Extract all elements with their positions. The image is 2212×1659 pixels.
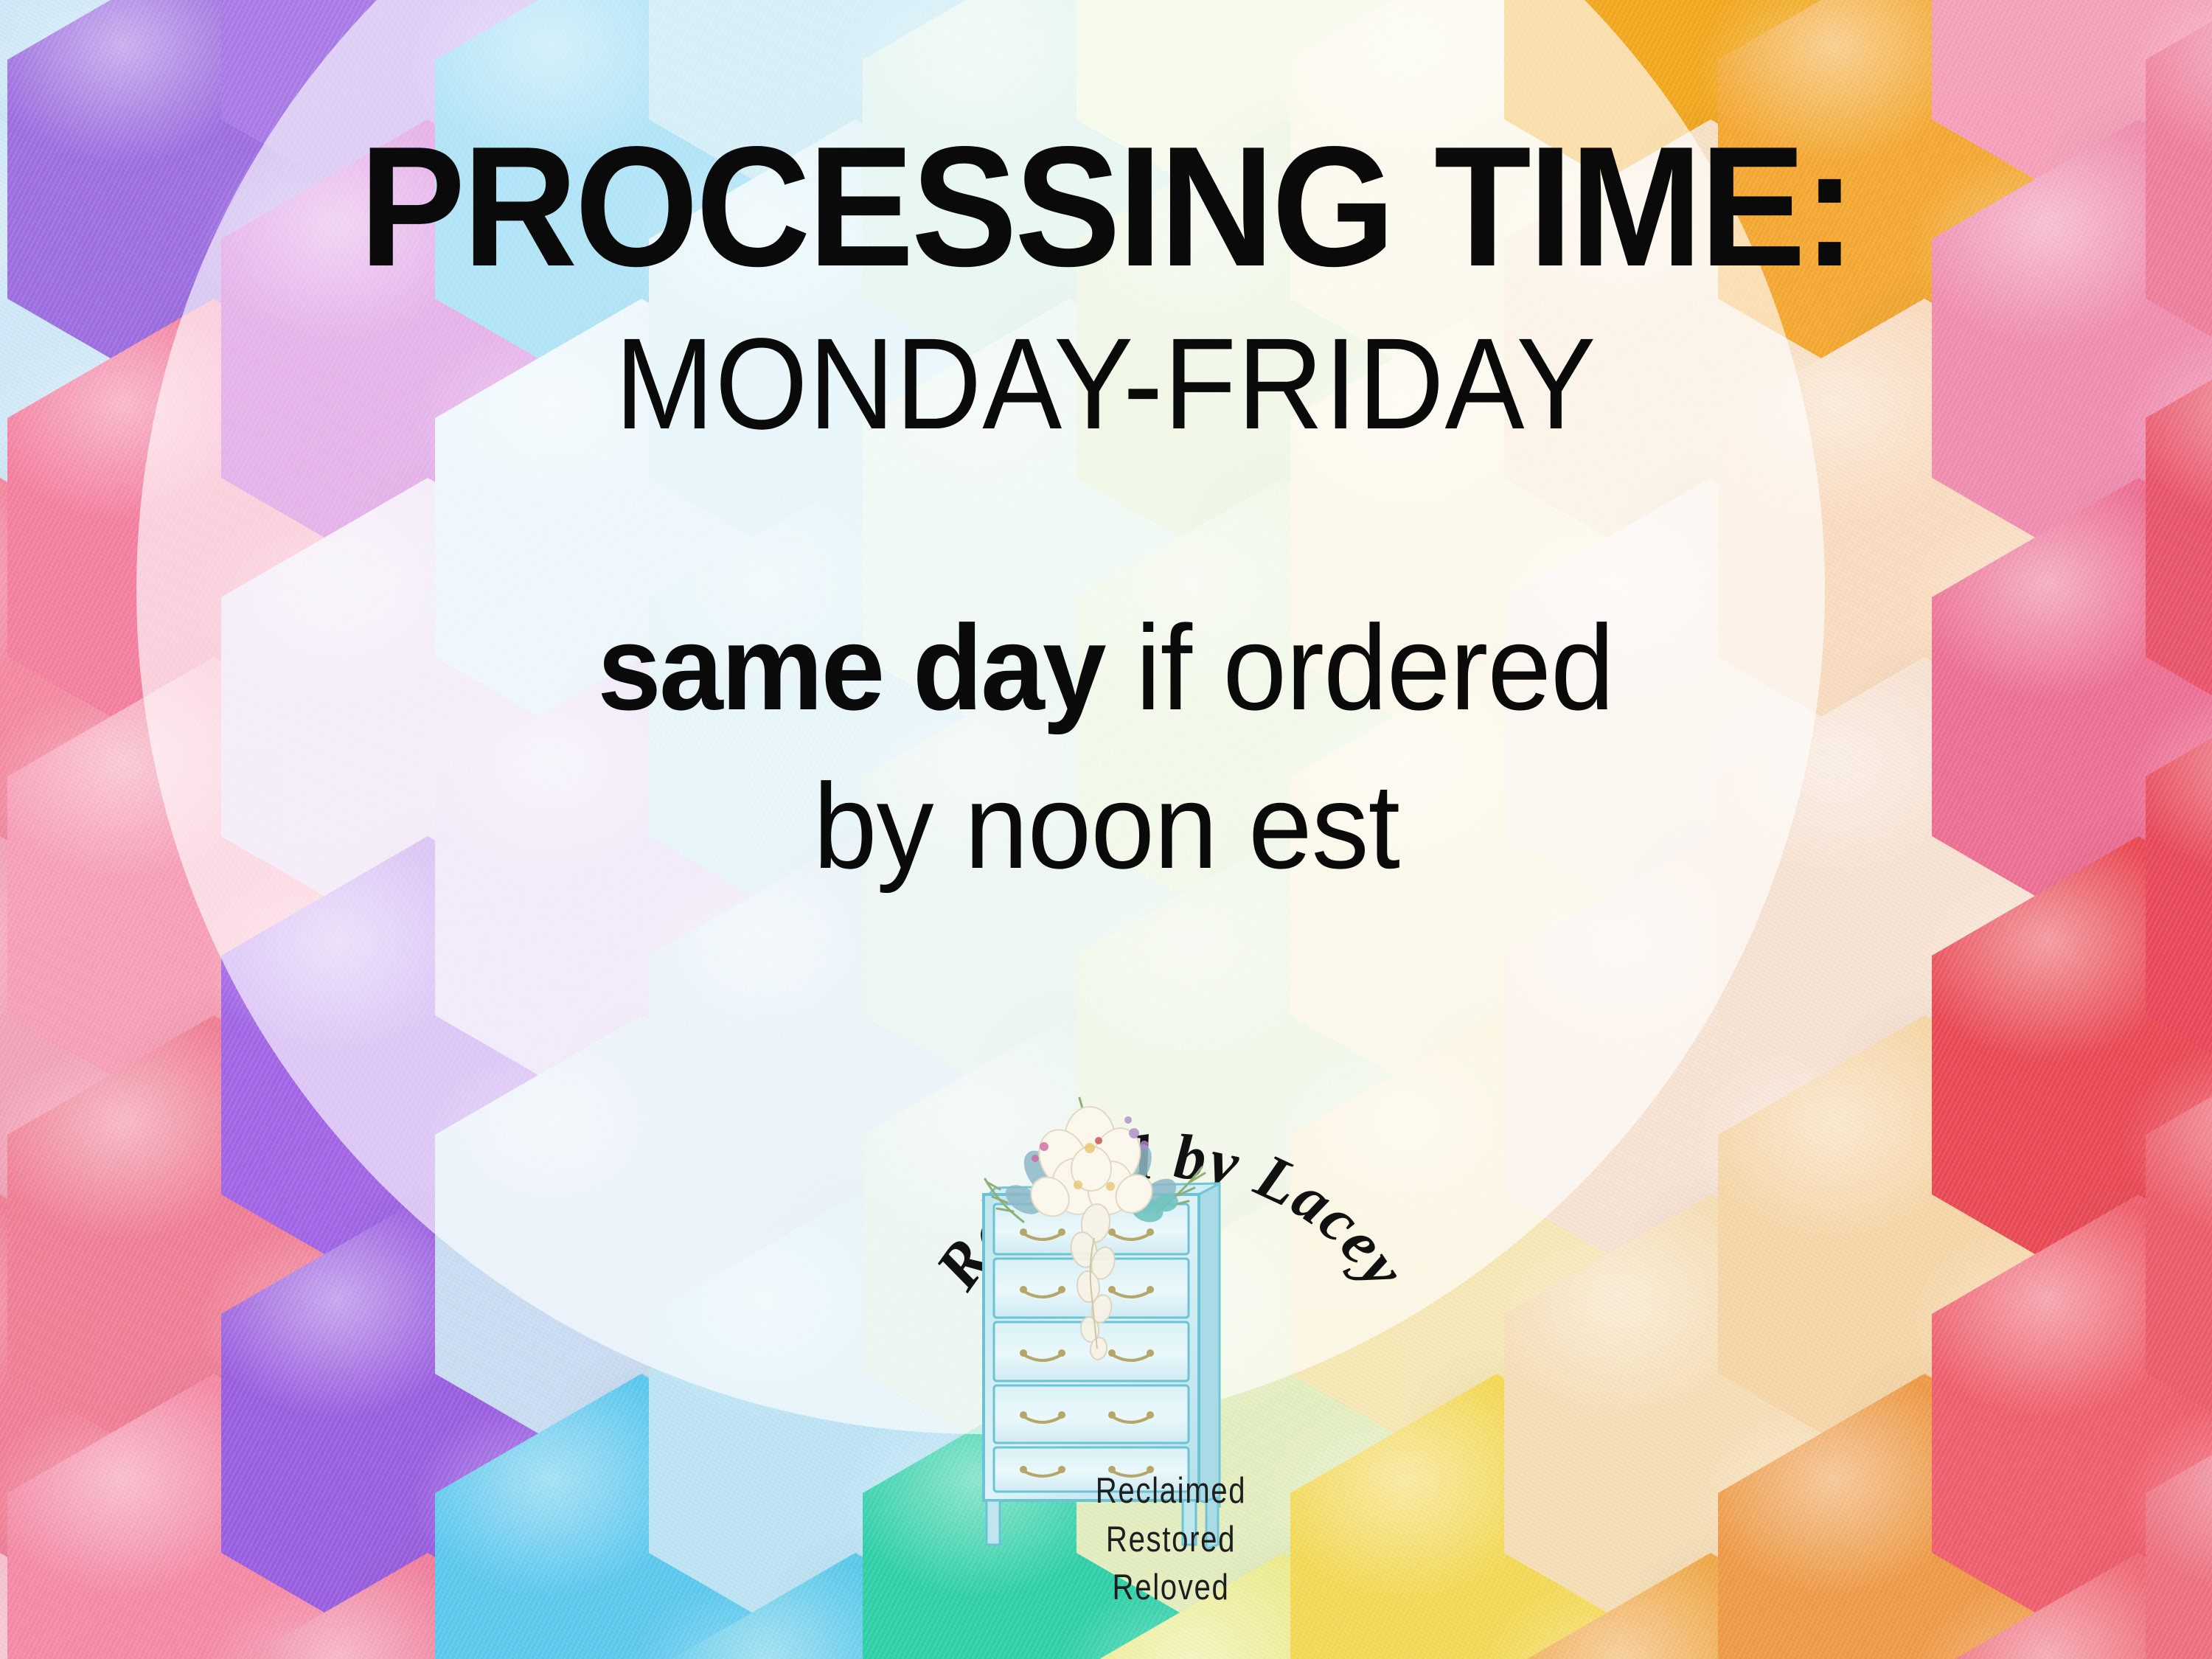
poster-canvas: PROCESSING TIME: MONDAY-FRIDAY same day … xyxy=(0,0,2212,1659)
honeycomb-background xyxy=(0,0,2212,1659)
